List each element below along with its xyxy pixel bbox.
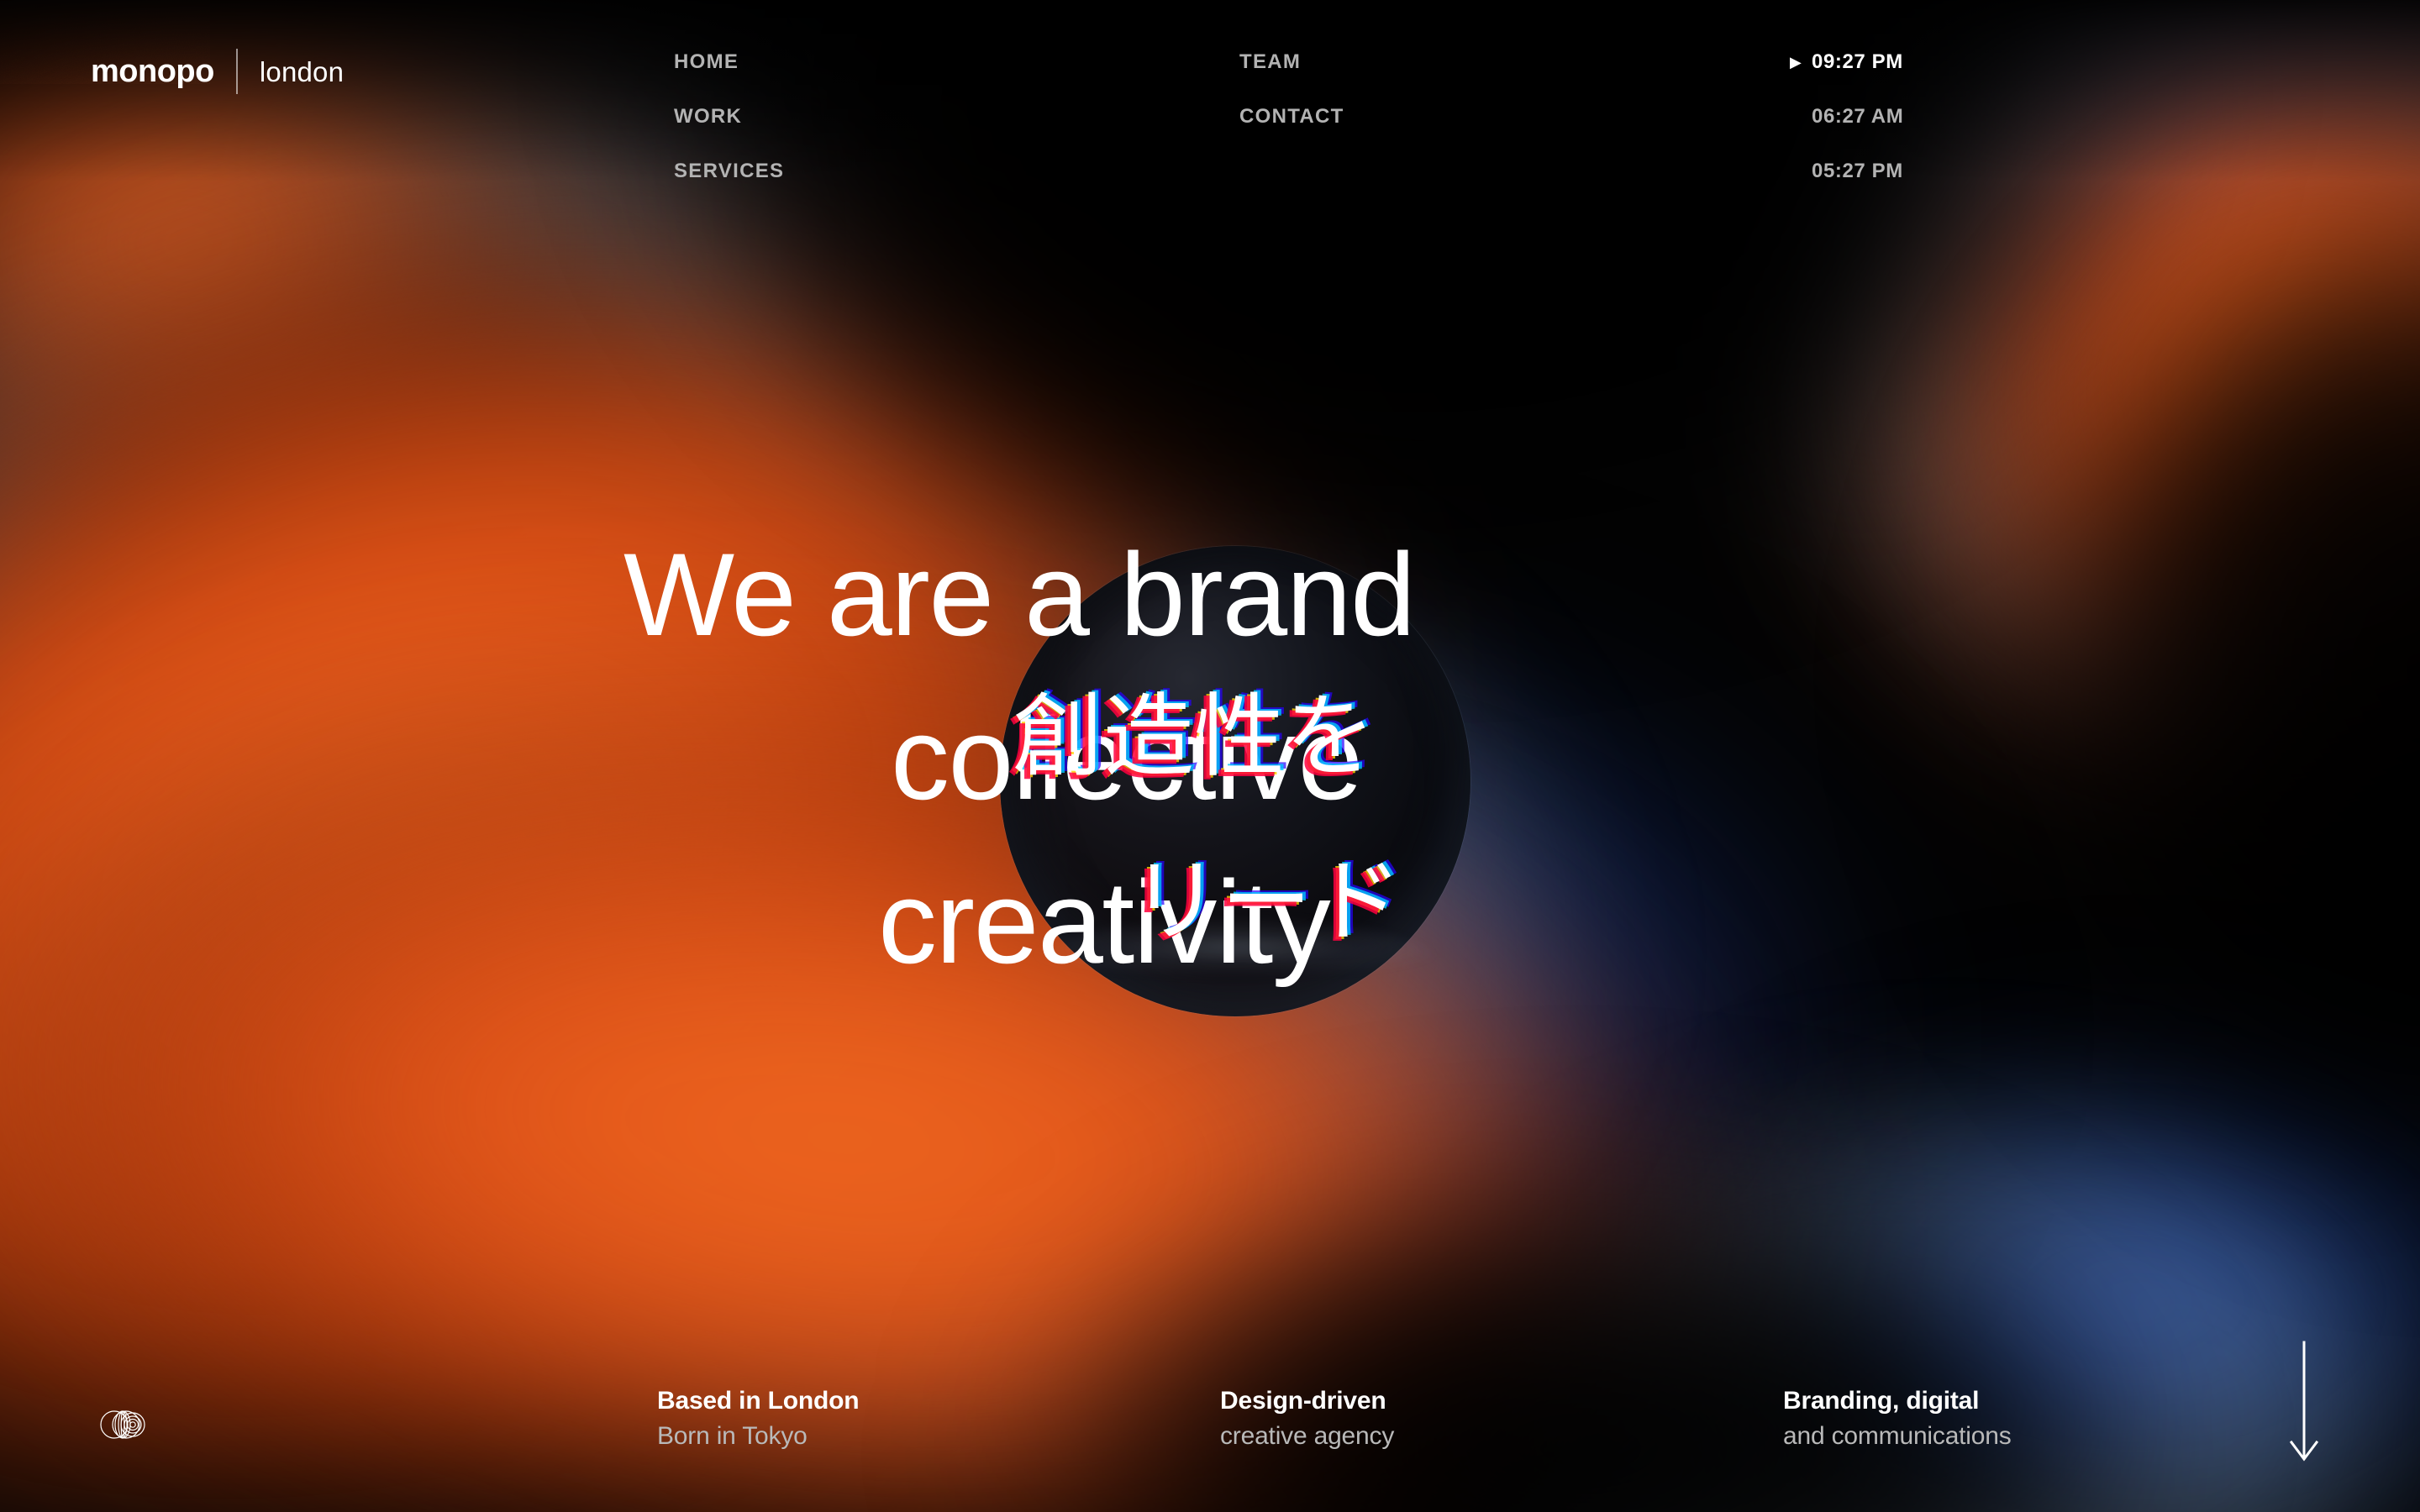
gradient-field	[0, 0, 2420, 1512]
brand-logo[interactable]: monopo london	[91, 49, 344, 94]
monopo-circles-mark-icon[interactable]	[94, 1403, 155, 1446]
footer-block-services: Branding, digital and communications	[1783, 1383, 2012, 1455]
site-footer: Based in London Born in Tokyo Design-dri…	[0, 1310, 2420, 1512]
page-root: monopo london HOME WORK SERVICES TEAM CO…	[0, 0, 2420, 1512]
nav-item-team[interactable]: TEAM	[1239, 52, 1344, 72]
clock-row-active[interactable]: ▶ 09:27 PM	[1790, 52, 2025, 72]
footer-secondary-3: and communications	[1783, 1419, 2012, 1455]
header-scrim	[0, 0, 2420, 1512]
clock-row-3[interactable]: 05:27 PM	[1790, 161, 2025, 181]
clock-time-2: 06:27 AM	[1812, 107, 1903, 127]
nav-item-services[interactable]: SERVICES	[674, 161, 784, 181]
nav-item-contact[interactable]: CONTACT	[1239, 107, 1344, 127]
footer-block-location: Based in London Born in Tokyo	[657, 1383, 859, 1455]
primary-nav-column-1: HOME WORK SERVICES	[674, 52, 784, 216]
footer-primary-3: Branding, digital	[1783, 1383, 2012, 1420]
arrow-down-icon[interactable]	[2287, 1341, 2321, 1465]
nav-item-work[interactable]: WORK	[674, 107, 784, 127]
primary-nav-column-2: TEAM CONTACT	[1239, 52, 1344, 161]
world-clock-list: ▶ 09:27 PM 06:27 AM 05:27 PM	[1790, 52, 2025, 216]
site-header: monopo london HOME WORK SERVICES TEAM CO…	[0, 0, 2420, 218]
footer-secondary-1: Born in Tokyo	[657, 1419, 859, 1455]
footer-primary-1: Based in London	[657, 1383, 859, 1420]
brand-name: monopo	[91, 55, 214, 87]
footer-primary-2: Design-driven	[1220, 1383, 1394, 1420]
logo-divider	[236, 49, 238, 94]
clock-time-1: 09:27 PM	[1812, 52, 1903, 72]
footer-secondary-2: creative agency	[1220, 1419, 1394, 1455]
brand-city: london	[260, 58, 344, 86]
nav-item-home[interactable]: HOME	[674, 52, 784, 72]
clock-time-3: 05:27 PM	[1812, 161, 1903, 181]
play-marker-icon: ▶	[1790, 55, 1812, 70]
clock-row-2[interactable]: 06:27 AM	[1790, 107, 2025, 127]
footer-block-discipline: Design-driven creative agency	[1220, 1383, 1394, 1455]
